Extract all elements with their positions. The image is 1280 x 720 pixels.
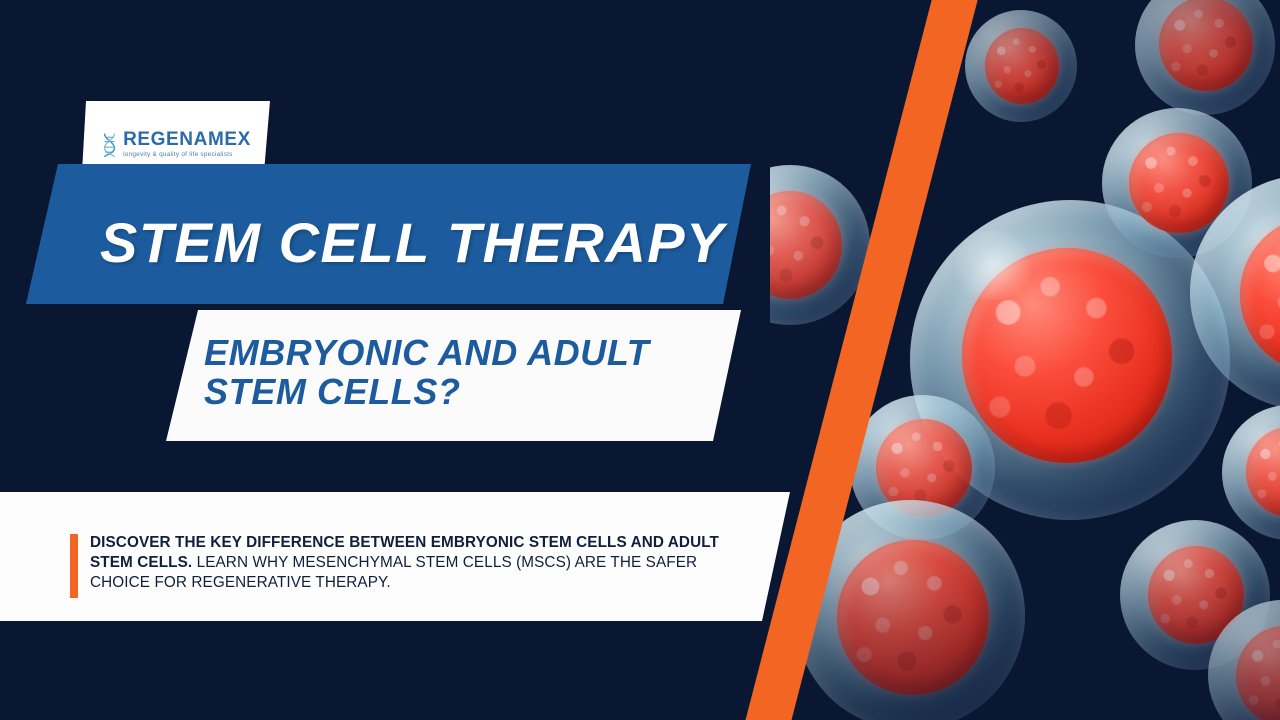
- brand-name: REGENAMEX: [123, 130, 251, 149]
- stem-cell-blob: [1135, 0, 1275, 115]
- banner-root: REGENAMEX longevity & quality of life sp…: [0, 0, 1280, 720]
- subtitle-band: EMBRYONIC AND ADULT STEM CELLS?: [166, 310, 741, 441]
- stem-cell-blob: [965, 10, 1077, 122]
- page-subtitle: EMBRYONIC AND ADULT STEM CELLS?: [204, 334, 734, 412]
- stem-cell-blob: [1190, 175, 1280, 410]
- orange-accent-bar: [70, 534, 78, 598]
- stem-cell-blob: [1102, 108, 1252, 258]
- stem-cell-blob: [850, 395, 995, 540]
- stem-cell-blob: [1120, 520, 1270, 670]
- stem-cell-blob: [1222, 405, 1280, 540]
- description-text: DISCOVER THE KEY DIFFERENCE BETWEEN EMBR…: [90, 533, 750, 593]
- brand-tagline: longevity & quality of life specialists: [123, 152, 251, 158]
- page-title: STEM CELL THERAPY: [100, 210, 725, 275]
- stem-cell-blob: [910, 200, 1230, 520]
- title-band: STEM CELL THERAPY: [26, 164, 751, 304]
- dna-helix-icon: [101, 132, 118, 158]
- brand-logo: REGENAMEX longevity & quality of life sp…: [82, 101, 270, 172]
- stem-cell-blob: [1208, 600, 1280, 720]
